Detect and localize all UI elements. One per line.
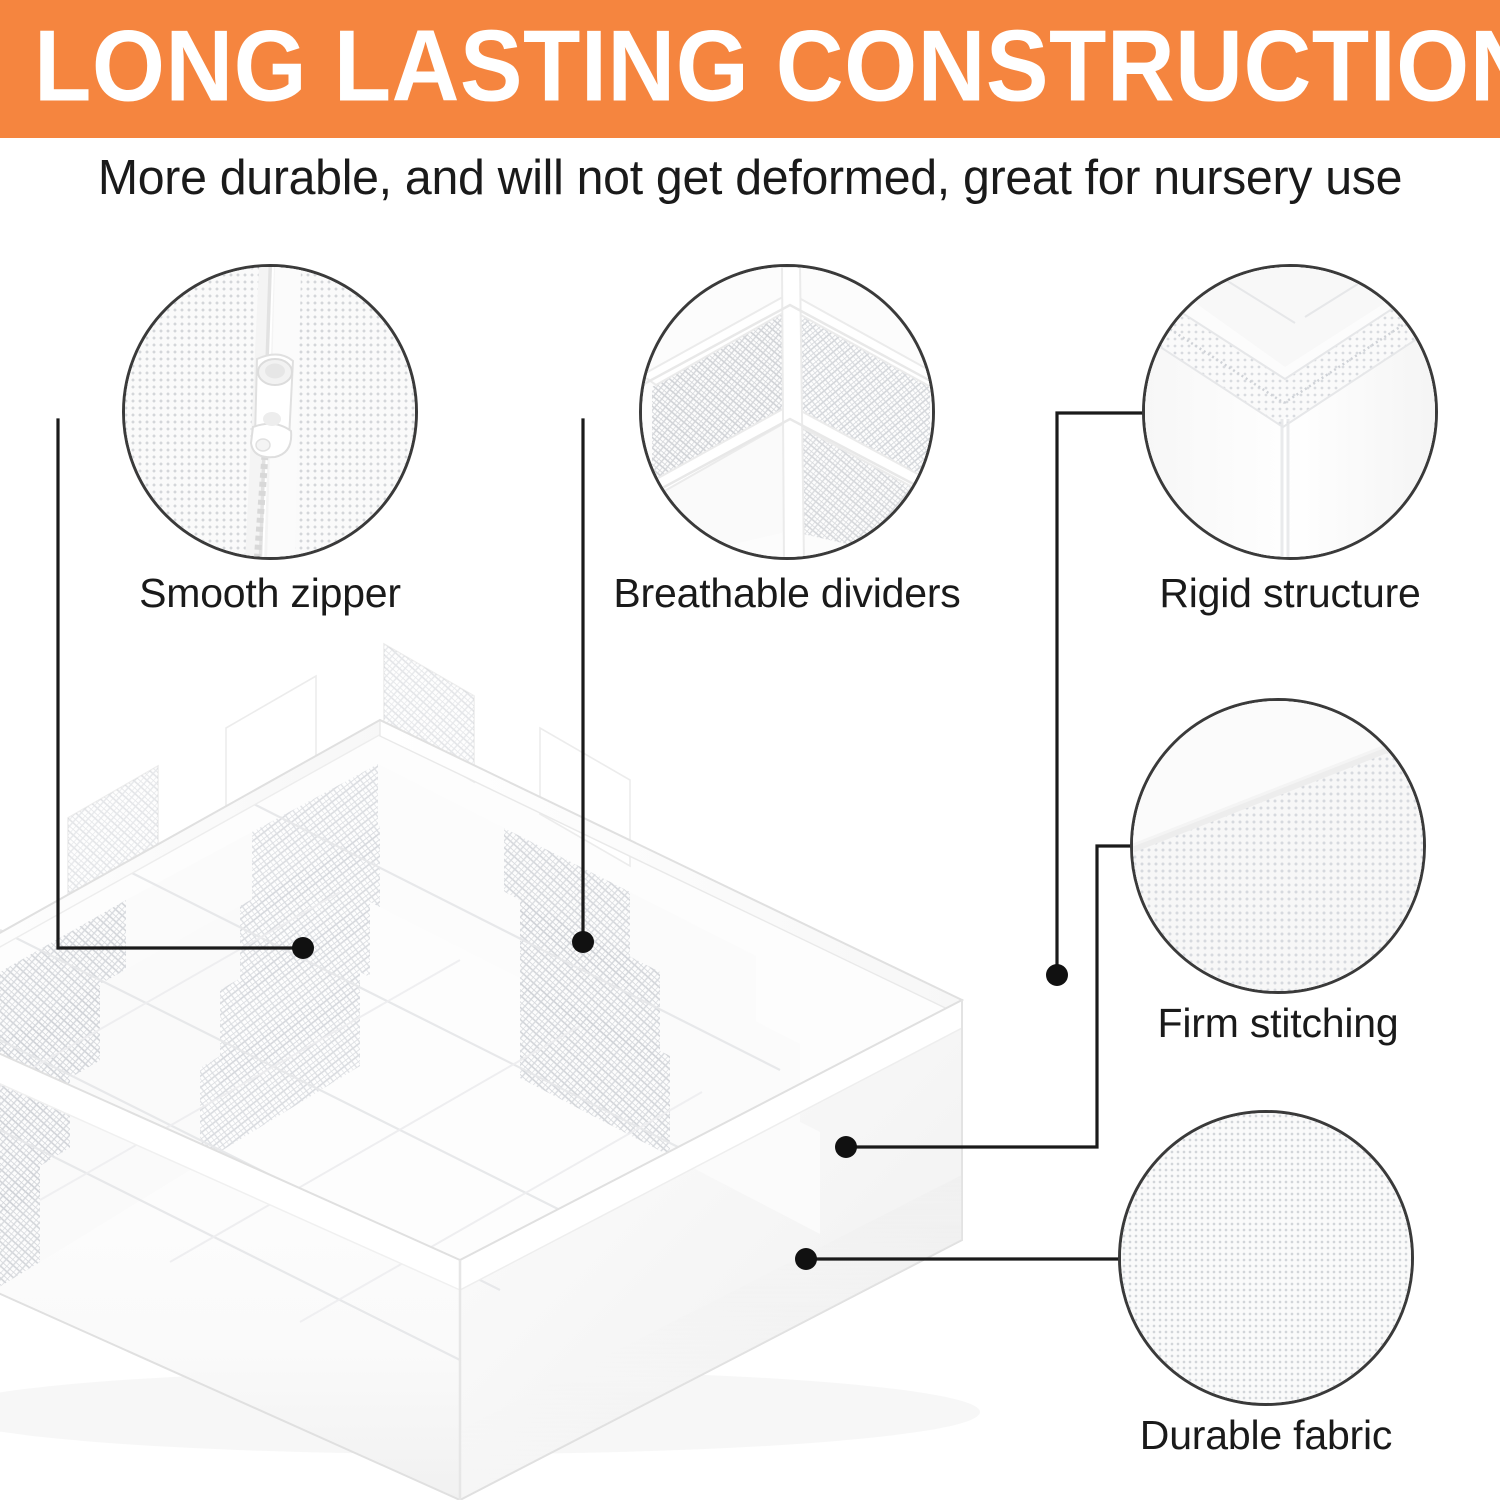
subtitle-text: More durable, and will not get deformed,… (11, 150, 1489, 206)
zipper-illustration (125, 267, 418, 560)
callout-image-breathable-dividers (639, 264, 935, 560)
header-banner: LONG LASTING CONSTRUCTION (0, 0, 1500, 138)
callout-image-firm-stitching (1130, 698, 1426, 994)
callout-image-smooth-zipper (122, 264, 418, 560)
product-svg (0, 600, 1120, 1500)
callout-image-durable-fabric (1118, 1110, 1414, 1406)
callout-label-firm-stitching: Firm stitching (1078, 1000, 1478, 1047)
callout-image-rigid-structure (1142, 264, 1438, 560)
infographic-page: LONG LASTING CONSTRUCTION More durable, … (0, 0, 1500, 1500)
mesh-compartments-illustration (642, 267, 935, 560)
callout-label-rigid-structure: Rigid structure (1090, 570, 1490, 617)
callout-label-breathable-dividers: Breathable dividers (587, 570, 987, 617)
banner-title: LONG LASTING CONSTRUCTION (34, 16, 1500, 117)
product-image (0, 600, 1120, 1500)
fabric-texture (1118, 1110, 1414, 1406)
callout-label-smooth-zipper: Smooth zipper (70, 570, 470, 617)
stitching-illustration (1133, 701, 1426, 994)
corner-structure-illustration (1145, 267, 1438, 560)
callout-label-durable-fabric: Durable fabric (1066, 1412, 1466, 1459)
